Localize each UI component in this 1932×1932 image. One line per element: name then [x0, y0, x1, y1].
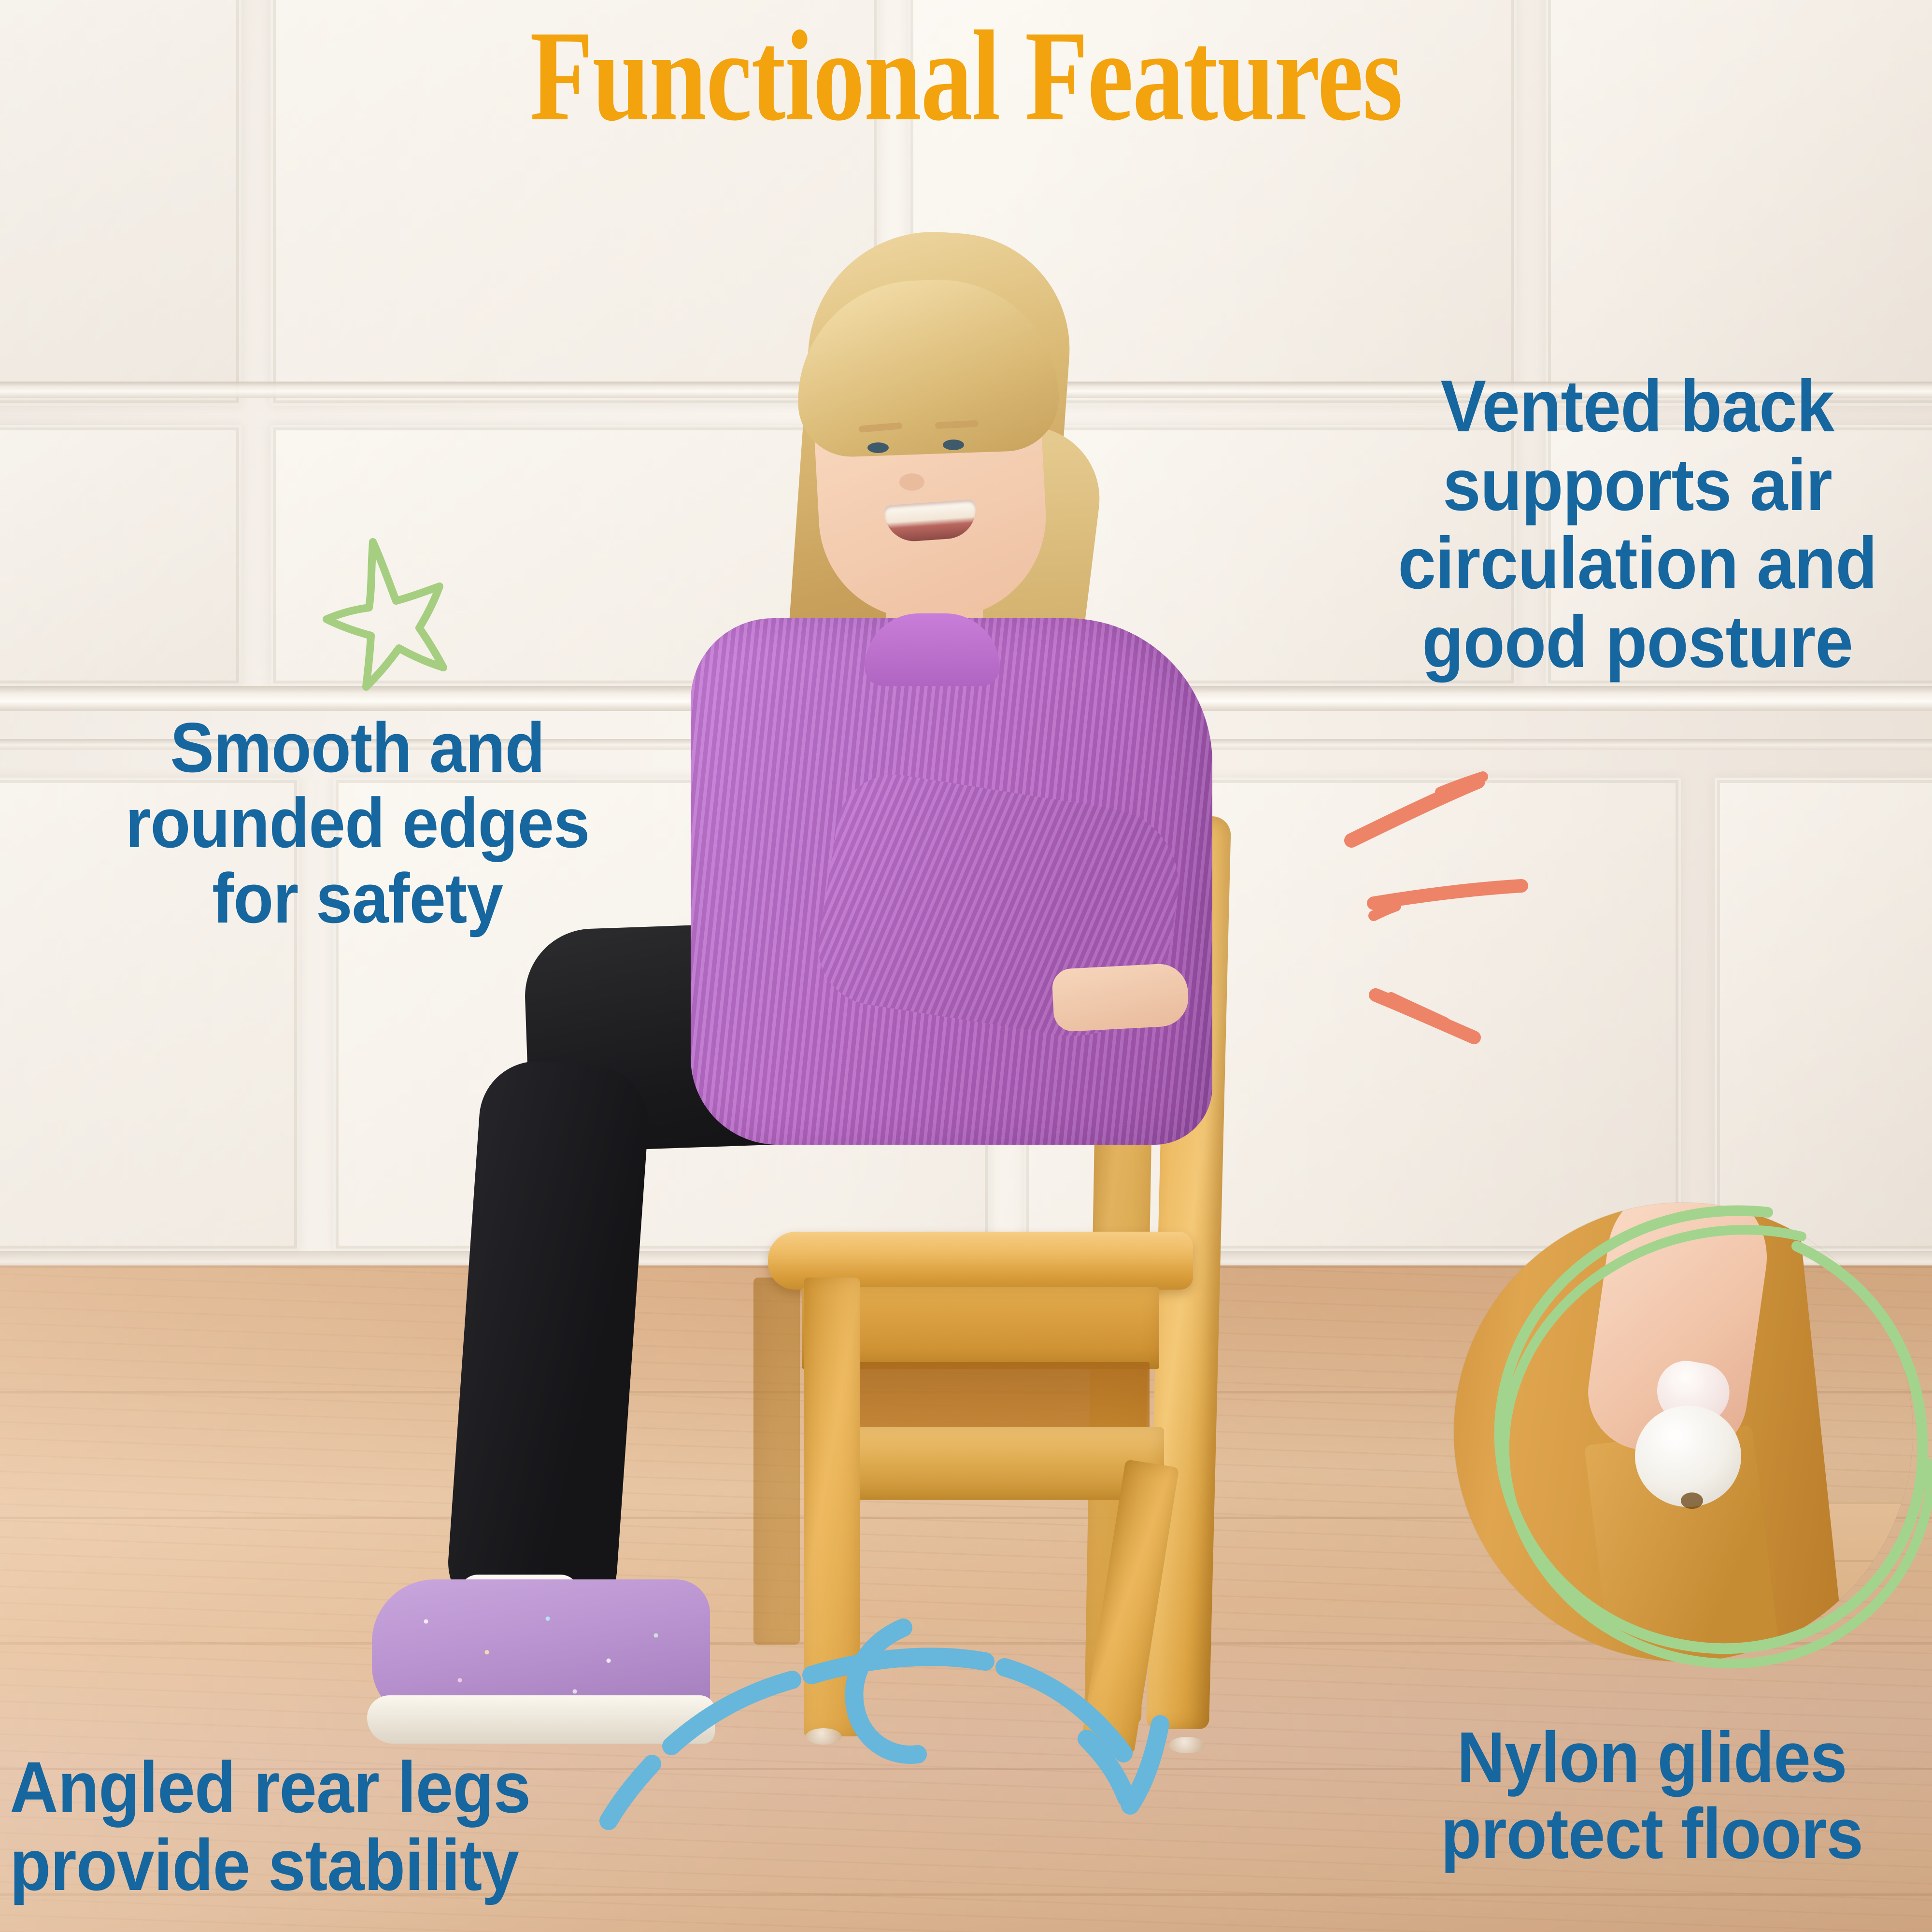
- nylon-glide-inset-photo: [1454, 1203, 1913, 1662]
- infographic-canvas: Functional Features Vented back supports…: [0, 0, 1932, 1932]
- wall-panel: [0, 425, 241, 686]
- eye: [867, 442, 889, 453]
- wall-panel: [1715, 778, 1932, 1251]
- inset-glide-hole: [1681, 1492, 1703, 1509]
- eye: [943, 440, 964, 450]
- caption-nylon-glides: Nylon glides protect floors: [1400, 1719, 1904, 1873]
- inset-nylon-glide: [1635, 1406, 1741, 1507]
- hand: [1051, 963, 1190, 1032]
- page-title: Functional Features: [193, 10, 1739, 142]
- nose: [899, 473, 924, 491]
- nylon-glide-foot: [1169, 1737, 1205, 1753]
- seated-child-photo: [526, 232, 1280, 1681]
- shoe-sole: [367, 1695, 715, 1744]
- nylon-glide-foot: [806, 1728, 841, 1745]
- caption-vented-back: Vented back supports air circulation and…: [1364, 367, 1912, 682]
- caption-angled-legs: Angled rear legs provide stability: [10, 1748, 594, 1904]
- caption-smooth-edges: Smooth and rounded edges for safety: [92, 710, 622, 937]
